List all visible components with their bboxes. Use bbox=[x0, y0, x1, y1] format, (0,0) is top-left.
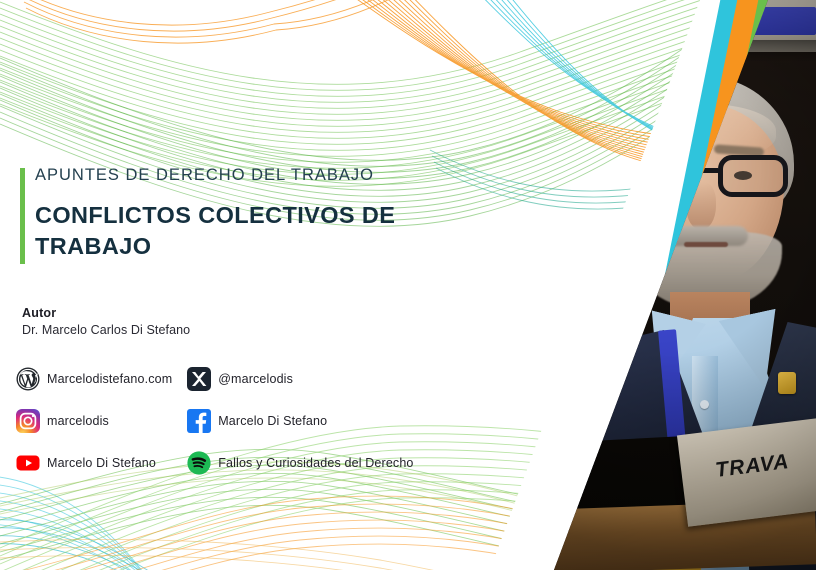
social-label: marcelodis bbox=[47, 414, 109, 428]
accent-bar bbox=[20, 168, 25, 264]
presentation-slide: APUNTES DE DERECHO DEL TRABAJO CONFLICTO… bbox=[0, 0, 816, 570]
social-item-x-twitter[interactable]: @marcelodis bbox=[187, 367, 456, 391]
social-item-instagram[interactable]: marcelodis bbox=[16, 409, 187, 433]
author-block: Autor Dr. Marcelo Carlos Di Stefano bbox=[22, 306, 190, 337]
social-row: marcelodis Marcelo Di Stefano bbox=[16, 400, 456, 442]
social-label: @marcelodis bbox=[218, 372, 293, 386]
social-item-spotify[interactable]: Fallos y Curiosidades del Derecho bbox=[187, 451, 456, 475]
social-label: Fallos y Curiosidades del Derecho bbox=[218, 456, 413, 470]
youtube-icon bbox=[16, 451, 40, 475]
title-block: APUNTES DE DERECHO DEL TRABAJO CONFLICTO… bbox=[20, 166, 450, 262]
social-links: Marcelodistefano.com @marcelodis bbox=[16, 358, 456, 484]
wordpress-icon bbox=[16, 367, 40, 391]
author-label: Autor bbox=[22, 306, 190, 320]
social-label: Marcelo Di Stefano bbox=[47, 456, 156, 470]
microphone-stand bbox=[574, 300, 598, 470]
spotify-icon bbox=[187, 451, 211, 475]
facebook-icon bbox=[187, 409, 211, 433]
slide-eyebrow: APUNTES DE DERECHO DEL TRABAJO bbox=[35, 166, 450, 186]
page-title: CONFLICTOS COLECTIVOS DE TRABAJO bbox=[35, 200, 415, 262]
social-row: Marcelodistefano.com @marcelodis bbox=[16, 358, 456, 400]
social-label: Marcelodistefano.com bbox=[47, 372, 172, 386]
subject-eyebrow-left bbox=[642, 146, 691, 159]
instagram-icon bbox=[16, 409, 40, 433]
social-item-youtube[interactable]: Marcelo Di Stefano bbox=[16, 451, 187, 475]
author-name: Dr. Marcelo Carlos Di Stefano bbox=[22, 323, 190, 337]
subject-eye-left bbox=[646, 172, 664, 181]
social-row: Marcelo Di Stefano Fallos y bbox=[16, 442, 456, 484]
social-label: Marcelo Di Stefano bbox=[218, 414, 327, 428]
social-item-wordpress[interactable]: Marcelodistefano.com bbox=[16, 367, 187, 391]
x-twitter-icon bbox=[187, 367, 211, 391]
social-item-facebook[interactable]: Marcelo Di Stefano bbox=[187, 409, 456, 433]
